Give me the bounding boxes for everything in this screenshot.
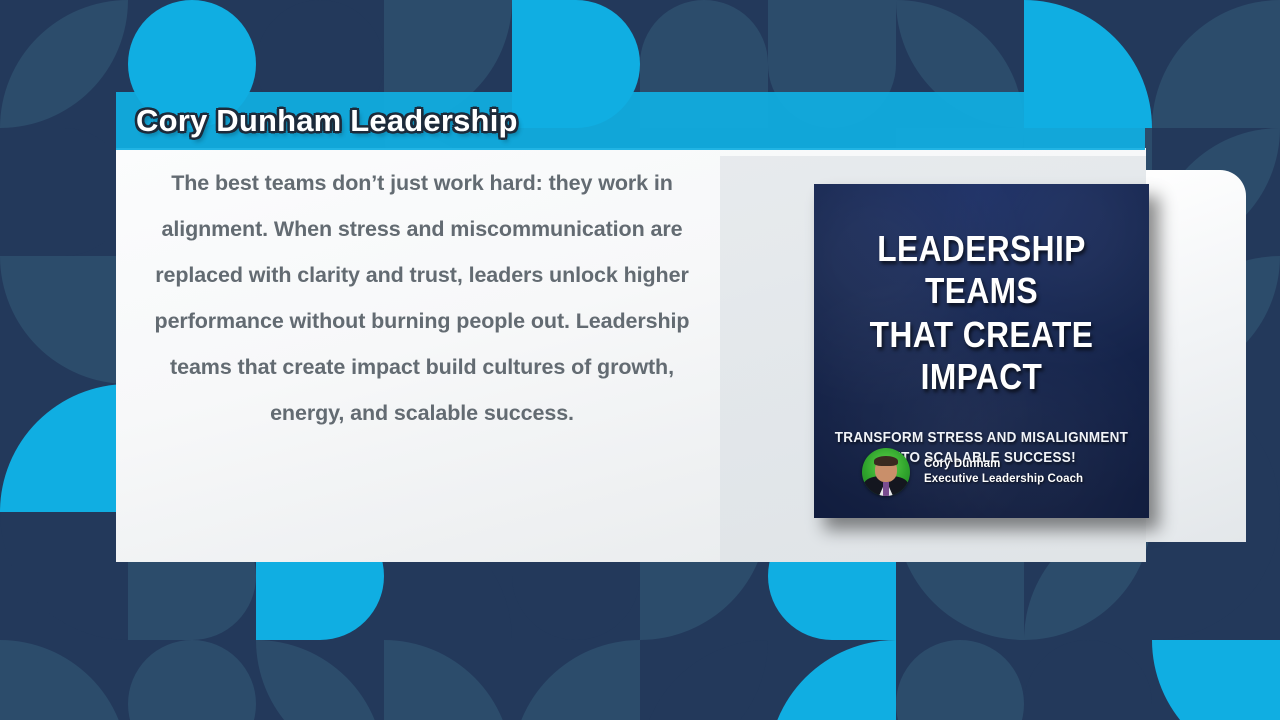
background-tile xyxy=(384,640,512,720)
body-paragraph: The best teams don’t just work hard: the… xyxy=(132,160,712,436)
presenter-byline: Cory Dunham Executive Leadership Coach xyxy=(862,448,1129,496)
background-tile xyxy=(512,640,640,720)
background-tile xyxy=(1024,640,1152,720)
promo-headline-line-2: THAT CREATE IMPACT xyxy=(834,314,1129,398)
background-tile xyxy=(1152,640,1280,720)
page-title: Cory Dunham Leadership xyxy=(136,103,518,139)
avatar-tie xyxy=(883,482,889,496)
promo-card: LEADERSHIP TEAMS THAT CREATE IMPACT TRAN… xyxy=(814,184,1149,518)
presenter-name: Cory Dunham xyxy=(924,457,1083,472)
background-tile xyxy=(0,128,128,256)
background-tile xyxy=(0,640,128,720)
title-bar: Cory Dunham Leadership xyxy=(116,92,1145,150)
background-tile xyxy=(768,640,896,720)
slide-canvas: Cory Dunham Leadership The best teams do… xyxy=(0,0,1280,720)
promo-subhead-line-1: TRANSFORM STRESS AND MISALIGNMENT xyxy=(831,428,1133,448)
avatar xyxy=(862,448,910,496)
background-tile xyxy=(640,640,768,720)
promo-headline-line-1: LEADERSHIP TEAMS xyxy=(834,228,1129,312)
background-tile xyxy=(128,640,256,720)
background-tile xyxy=(0,0,128,128)
background-tile xyxy=(256,640,384,720)
avatar-hair xyxy=(874,456,898,466)
background-tile xyxy=(896,640,1024,720)
background-tile xyxy=(0,256,128,384)
background-tile xyxy=(0,512,128,640)
background-tile xyxy=(1152,0,1280,128)
presenter-role: Executive Leadership Coach xyxy=(924,472,1083,487)
presenter-text-block: Cory Dunham Executive Leadership Coach xyxy=(924,457,1083,487)
background-tile xyxy=(0,384,128,512)
